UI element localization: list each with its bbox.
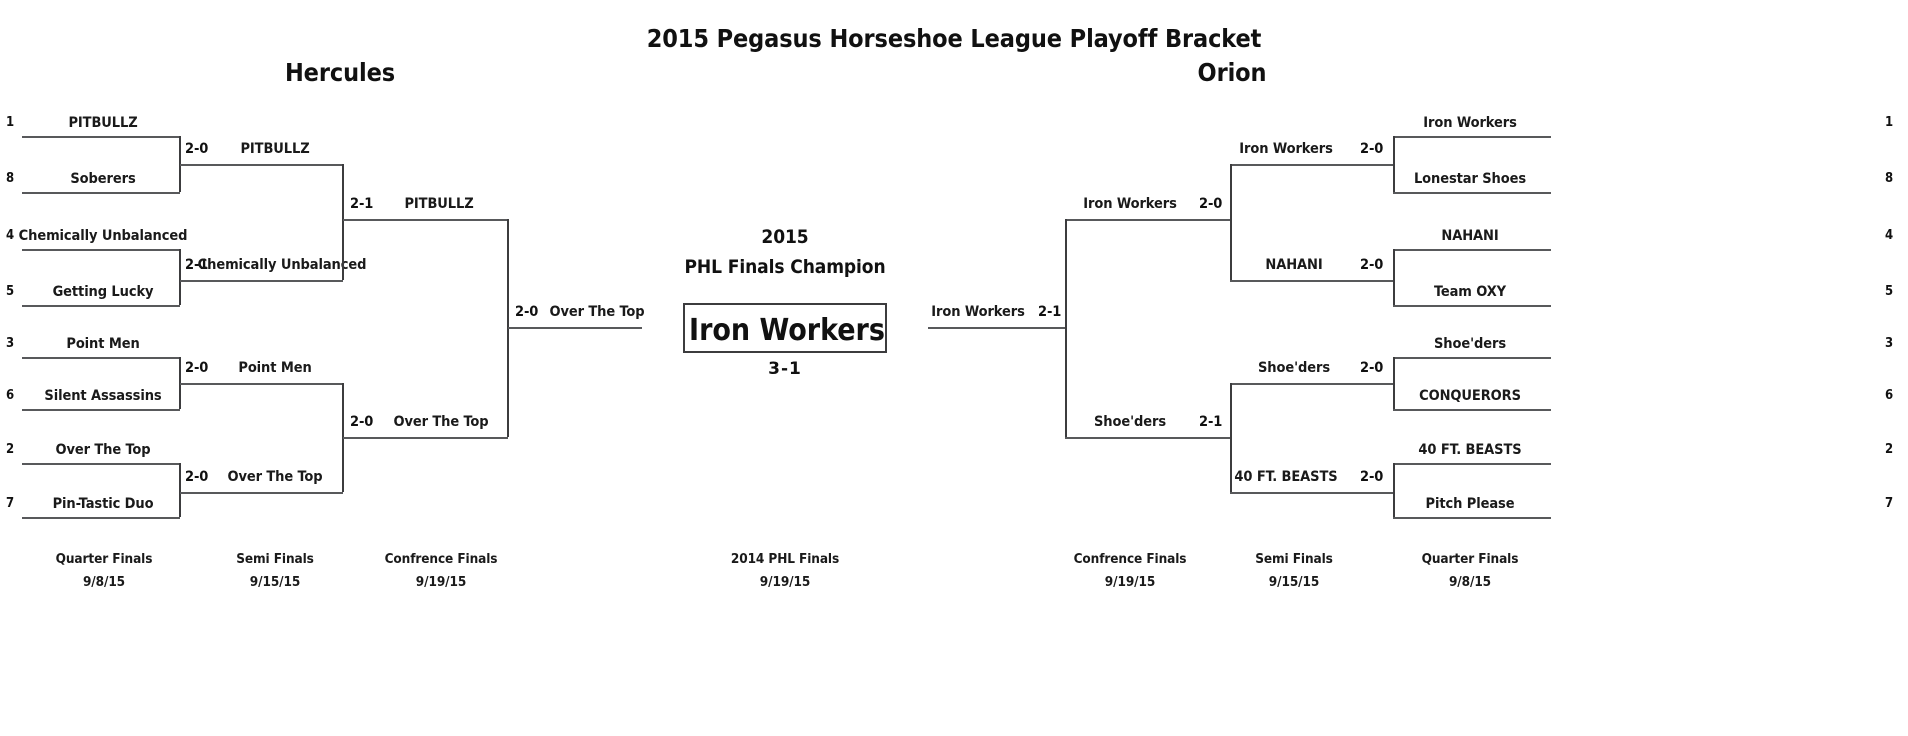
slot-line-left-qf-8 (22, 517, 180, 519)
seed-right-4: 4 (1885, 229, 1893, 242)
team-left-conf-champion[interactable]: Over The Top (549, 305, 644, 320)
team-right-sf-1[interactable]: Iron Workers (1239, 142, 1333, 157)
slot-line-right-qf-5 (1393, 357, 1551, 359)
score-left-sf-1: 2-0 (185, 142, 208, 157)
conference-heading-left: Hercules (285, 60, 395, 85)
score-left-cf-2: 2-0 (350, 415, 373, 430)
slot-line-right-sf-1 (1230, 164, 1393, 166)
finals-caption-title: PHL Finals Champion (684, 258, 885, 277)
seed-right-7: 7 (1885, 497, 1893, 510)
footer-date-finals: 9/19/15 (760, 576, 810, 590)
score-left-sf-4: 2-0 (185, 470, 208, 485)
team-right-qf-7[interactable]: 40 FT. BEASTS (1418, 443, 1521, 458)
team-right-qf-4[interactable]: Team OXY (1434, 285, 1506, 300)
team-left-qf-8[interactable]: Pin-Tastic Duo (53, 497, 154, 512)
seed-left-5: 5 (6, 285, 14, 298)
team-right-qf-3[interactable]: NAHANI (1441, 229, 1498, 244)
connector-right-cf-pair (1065, 219, 1067, 437)
slot-line-right-cf-2 (1065, 437, 1230, 439)
team-right-sf-3[interactable]: Shoe'ders (1258, 361, 1330, 376)
slot-line-left-sf-1 (180, 164, 343, 166)
team-left-qf-5[interactable]: Point Men (66, 337, 139, 352)
footer-label-left-conference-finals: Confrence Finals (385, 553, 498, 567)
footer-date-left-conference-finals: 9/19/15 (416, 576, 466, 590)
score-right-conf-champion: 2-1 (1038, 305, 1061, 320)
footer-label-right-quarter-finals: Quarter Finals (1422, 553, 1519, 567)
team-right-qf-8[interactable]: Pitch Please (1426, 497, 1515, 512)
seed-right-2: 2 (1885, 443, 1893, 456)
team-left-cf-1[interactable]: PITBULLZ (404, 197, 473, 212)
team-left-qf-3[interactable]: Chemically Unbalanced (19, 229, 188, 244)
team-left-sf-3[interactable]: Point Men (238, 361, 311, 376)
connector-right-qf-pair-3 (1393, 357, 1395, 409)
footer-label-right-conference-finals: Confrence Finals (1074, 553, 1187, 567)
score-left-sf-3: 2-0 (185, 361, 208, 376)
slot-line-right-qf-6 (1393, 409, 1551, 411)
seed-left-3: 3 (6, 337, 14, 350)
slot-line-right-qf-3 (1393, 249, 1551, 251)
slot-line-right-qf-1 (1393, 136, 1551, 138)
connector-left-qf-pair-2 (179, 249, 181, 305)
footer-date-left-semi-finals: 9/15/15 (250, 576, 300, 590)
footer-date-left-quarter-finals: 9/8/15 (83, 576, 125, 590)
score-right-sf-2: 2-0 (1360, 258, 1383, 273)
slot-line-left-qf-4 (22, 305, 180, 307)
slot-line-left-qf-2 (22, 192, 180, 194)
footer-date-right-semi-finals: 9/15/15 (1269, 576, 1319, 590)
team-right-qf-6[interactable]: CONQUERORS (1419, 389, 1521, 404)
seed-right-6: 6 (1885, 389, 1893, 402)
champion-record: 3-1 (768, 361, 802, 378)
connector-right-sf-pair-2 (1230, 383, 1232, 492)
slot-line-right-qf-2 (1393, 192, 1551, 194)
footer-date-right-quarter-finals: 9/8/15 (1449, 576, 1491, 590)
team-left-qf-1[interactable]: PITBULLZ (68, 116, 137, 131)
seed-right-8: 8 (1885, 172, 1893, 185)
connector-right-sf-pair-1 (1230, 164, 1232, 280)
slot-line-left-qf-5 (22, 357, 180, 359)
seed-left-1: 1 (6, 116, 14, 129)
slot-line-left-qf-6 (22, 409, 180, 411)
seed-left-8: 8 (6, 172, 14, 185)
slot-line-right-sf-3 (1230, 383, 1393, 385)
team-right-qf-5[interactable]: Shoe'ders (1434, 337, 1506, 352)
score-left-cf-1: 2-1 (350, 197, 373, 212)
seed-left-7: 7 (6, 497, 14, 510)
score-right-cf-2: 2-1 (1199, 415, 1222, 430)
slot-line-right-conf-champion (928, 327, 1066, 329)
team-left-qf-6[interactable]: Silent Assassins (44, 389, 161, 404)
finals-caption-year: 2015 (761, 228, 808, 247)
team-left-qf-2[interactable]: Soberers (70, 172, 135, 187)
seed-right-5: 5 (1885, 285, 1893, 298)
team-left-sf-1[interactable]: PITBULLZ (240, 142, 309, 157)
slot-line-left-sf-4 (180, 492, 343, 494)
connector-left-sf-pair-1 (342, 164, 344, 280)
seed-left-2: 2 (6, 443, 14, 456)
footer-label-left-semi-finals: Semi Finals (236, 553, 314, 567)
slot-line-right-cf-1 (1065, 219, 1230, 221)
score-right-sf-3: 2-0 (1360, 361, 1383, 376)
champion-name[interactable]: Iron Workers (685, 305, 889, 355)
score-right-cf-1: 2-0 (1199, 197, 1222, 212)
team-right-sf-2[interactable]: NAHANI (1265, 258, 1322, 273)
slot-line-left-sf-2 (180, 280, 343, 282)
slot-line-left-cf-1 (343, 219, 508, 221)
seed-left-4: 4 (6, 229, 14, 242)
team-right-conf-champion[interactable]: Iron Workers (931, 305, 1025, 320)
connector-right-qf-pair-4 (1393, 463, 1395, 517)
slot-line-right-qf-7 (1393, 463, 1551, 465)
team-right-qf-2[interactable]: Lonestar Shoes (1414, 172, 1526, 187)
footer-label-right-semi-finals: Semi Finals (1255, 553, 1333, 567)
page-title: 2015 Pegasus Horseshoe League Playoff Br… (647, 26, 1262, 51)
slot-line-right-sf-2 (1230, 280, 1393, 282)
footer-label-left-quarter-finals: Quarter Finals (56, 553, 153, 567)
team-left-qf-7[interactable]: Over The Top (55, 443, 150, 458)
score-right-sf-4: 2-0 (1360, 470, 1383, 485)
score-right-sf-1: 2-0 (1360, 142, 1383, 157)
connector-right-qf-pair-2 (1393, 249, 1395, 305)
slot-line-right-qf-4 (1393, 305, 1551, 307)
team-right-cf-1[interactable]: Iron Workers (1083, 197, 1177, 212)
connector-left-qf-pair-4 (179, 463, 181, 517)
seed-left-6: 6 (6, 389, 14, 402)
team-right-sf-4[interactable]: 40 FT. BEASTS (1234, 470, 1337, 485)
conference-heading-right: Orion (1198, 60, 1267, 85)
connector-right-qf-pair-1 (1393, 136, 1395, 192)
slot-line-left-qf-1 (22, 136, 180, 138)
slot-line-right-qf-8 (1393, 517, 1551, 519)
footer-label-finals: 2014 PHL Finals (731, 553, 839, 567)
footer-date-right-conference-finals: 9/19/15 (1105, 576, 1155, 590)
slot-line-left-conf-champion (508, 327, 642, 329)
slot-line-left-sf-3 (180, 383, 343, 385)
slot-line-left-qf-3 (22, 249, 180, 251)
team-left-qf-4[interactable]: Getting Lucky (53, 285, 154, 300)
team-left-cf-2[interactable]: Over The Top (393, 415, 488, 430)
champion-box: Iron Workers (683, 303, 887, 353)
team-left-sf-4[interactable]: Over The Top (227, 470, 322, 485)
slot-line-left-qf-7 (22, 463, 180, 465)
slot-line-left-cf-2 (343, 437, 508, 439)
slot-line-right-sf-4 (1230, 492, 1393, 494)
score-left-conf-champion: 2-0 (515, 305, 538, 320)
team-right-qf-1[interactable]: Iron Workers (1423, 116, 1517, 131)
seed-right-3: 3 (1885, 337, 1893, 350)
playoff-bracket-page: 2015 Pegasus Horseshoe League Playoff Br… (0, 0, 1908, 736)
seed-right-1: 1 (1885, 116, 1893, 129)
team-right-cf-2[interactable]: Shoe'ders (1094, 415, 1166, 430)
